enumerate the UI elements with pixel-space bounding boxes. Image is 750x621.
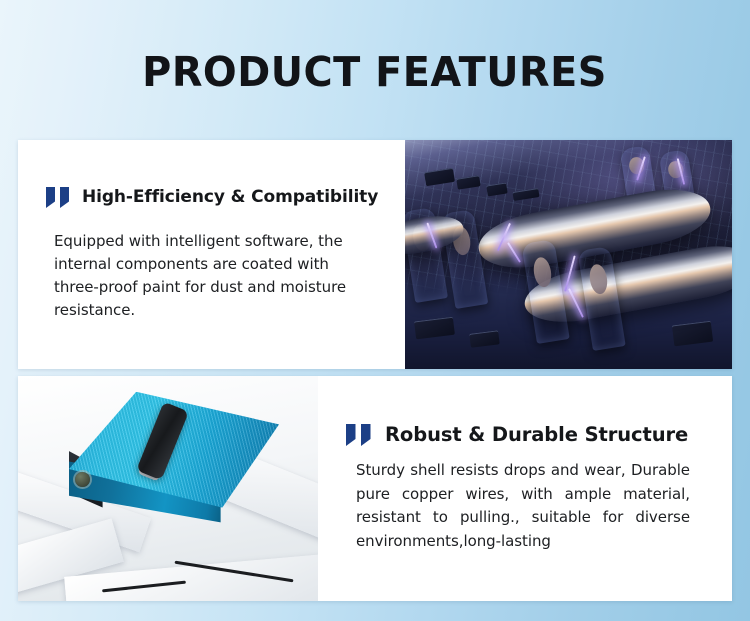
- product-features-page: PRODUCT FEATURES High-Efficiency & Compa…: [0, 0, 750, 621]
- feature-card-2-title: Robust & Durable Structure: [385, 424, 688, 446]
- feature-card-1-text-pane: High-Efficiency & Compatibility Equipped…: [18, 140, 405, 369]
- terminal-knob: [75, 472, 90, 487]
- page-title: PRODUCT FEATURES: [143, 52, 608, 93]
- quote-mark-icon: [46, 187, 71, 208]
- circuit-board-illustration: [405, 140, 732, 369]
- inverter-unit: [69, 392, 279, 541]
- power-inverter-photo: [18, 376, 318, 601]
- feature-card-1-title: High-Efficiency & Compatibility: [82, 188, 378, 208]
- feature-card-2: Robust & Durable Structure Sturdy shell …: [18, 376, 732, 601]
- feature-card-2-image: [18, 376, 318, 601]
- feature-card-2-text-pane: Robust & Durable Structure Sturdy shell …: [318, 376, 732, 601]
- feature-card-1-heading-row: High-Efficiency & Compatibility: [46, 187, 383, 208]
- feature-card-1-body: Equipped with intelligent software, the …: [46, 230, 376, 321]
- quote-mark-icon: [346, 424, 372, 446]
- feature-card-2-heading-row: Robust & Durable Structure: [346, 424, 708, 446]
- page-title-container: PRODUCT FEATURES: [0, 52, 750, 93]
- feature-card-2-body: Sturdy shell resists drops and wear, Dur…: [346, 459, 708, 553]
- feature-card-1-image: [405, 140, 732, 369]
- feature-card-2-body-last-line: long-lasting: [463, 532, 550, 550]
- feature-card-1: High-Efficiency & Compatibility Equipped…: [18, 140, 732, 369]
